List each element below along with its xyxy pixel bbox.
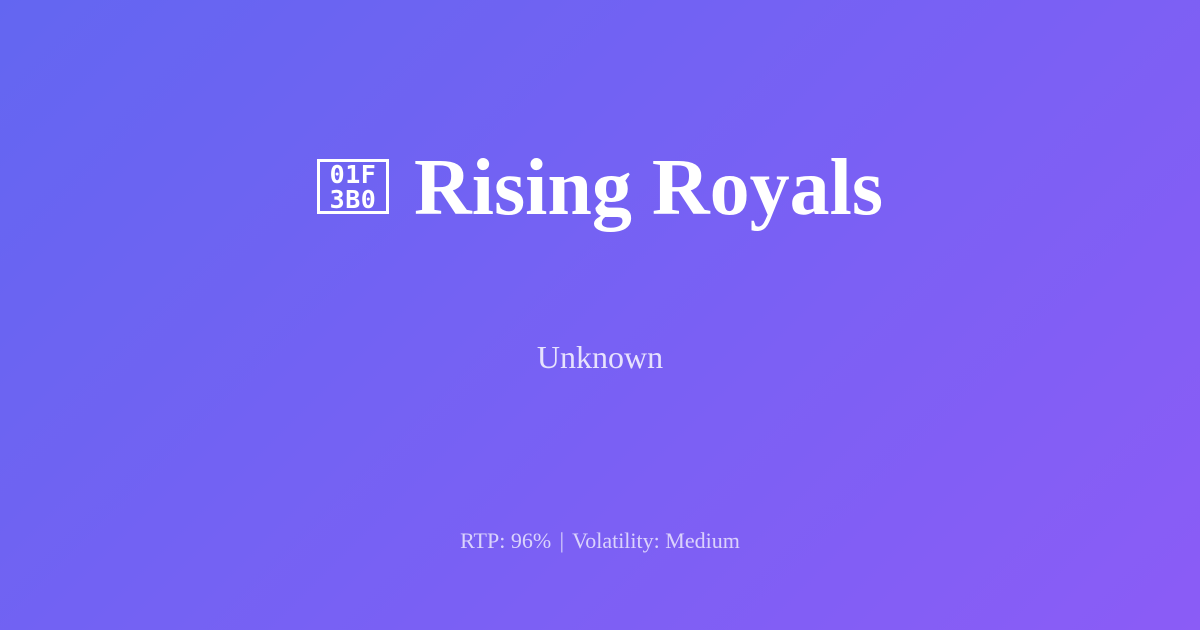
- game-title: Rising Royals: [414, 148, 883, 228]
- rtp-label: RTP:: [460, 528, 505, 553]
- codepoint-row-bottom: 3B0: [330, 187, 377, 212]
- title-row: 01F 3B0 Rising Royals: [317, 94, 883, 281]
- volatility-value: Medium: [665, 528, 740, 553]
- meta-separator: |: [557, 528, 567, 553]
- game-meta-line: RTP: 96% | Volatility: Medium: [0, 528, 1200, 554]
- game-preview-card: 01F 3B0 Rising Royals Unknown RTP: 96% |…: [0, 0, 1200, 630]
- volatility-label: Volatility:: [572, 528, 660, 553]
- codepoint-row-top: 01F: [330, 162, 377, 187]
- slot-machine-icon: 01F 3B0: [317, 159, 389, 214]
- hero-section: 01F 3B0 Rising Royals Unknown: [0, 0, 1200, 470]
- game-provider-subtitle: Unknown: [537, 339, 663, 376]
- rtp-value: 96%: [511, 528, 551, 553]
